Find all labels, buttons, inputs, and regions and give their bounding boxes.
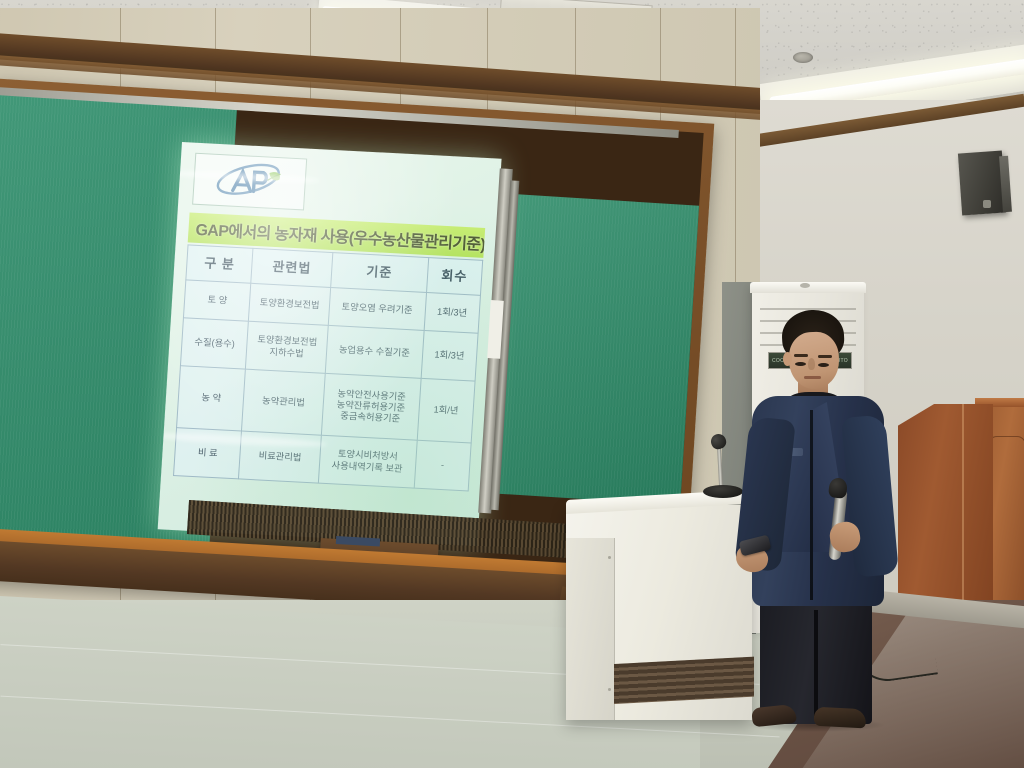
column-header-division: 구 분 <box>186 245 254 283</box>
heater-bottom-grille <box>614 657 754 704</box>
presenter-jacket-zipper <box>810 410 813 600</box>
standard-line: 토양오염 우려기준 <box>331 301 422 317</box>
column-header-standard: 기준 <box>330 253 428 293</box>
air-conditioner-knob[interactable] <box>800 283 810 288</box>
heater-screw <box>608 556 611 559</box>
cell-division: 토 양 <box>183 280 251 321</box>
lectern-front-panel <box>988 436 1024 618</box>
presenter-nose <box>808 358 815 370</box>
presenter-eyebrow-right <box>818 355 832 358</box>
ceiling-sprinkler-icon <box>793 52 813 63</box>
gap-standards-table: 구 분 관련법 기준 회수 토 양 토양환경보전법 토양오염 우려기준 1회/3… <box>173 244 483 491</box>
gap-logo-box <box>192 153 307 211</box>
cell-standard: 토양시비처방서 사용내역기록 보관 <box>318 435 417 488</box>
cell-frequency: 1회/년 <box>417 378 475 443</box>
projection-screen-slide: GAP에서의 농자재 사용(우수농산물관리기준) 구 분 관련법 기준 회수 토… <box>158 142 502 546</box>
speaker-logo-icon <box>983 200 991 208</box>
cell-division: 농 약 <box>177 366 246 431</box>
cell-standard: 농약안전사용기준 농약잔류허용기준 중금속허용기준 <box>321 373 421 440</box>
chalkboard-grain <box>499 194 699 505</box>
presenter-ear <box>783 352 792 366</box>
standard-line: 농업용수 수질기준 <box>329 344 420 360</box>
cell-frequency: 1회/3년 <box>421 330 478 381</box>
cell-division: 수질(용수) <box>180 318 248 369</box>
column-header-frequency: 회수 <box>426 258 483 296</box>
heater-screw <box>608 688 611 691</box>
presenter-shoe-right <box>814 707 867 729</box>
cell-law: 토양환경보전법 <box>249 283 331 325</box>
cell-division: 비 료 <box>174 428 242 479</box>
cell-standard: 토양오염 우려기준 <box>328 287 426 330</box>
law-line: 농약관리법 <box>246 395 321 410</box>
presenter <box>736 310 906 722</box>
cell-frequency: - <box>414 440 471 491</box>
presenter-eyebrow-left <box>794 354 808 357</box>
cell-law: 농약관리법 <box>242 369 325 435</box>
law-line: 비료관리법 <box>243 449 318 464</box>
cell-frequency: 1회/3년 <box>424 292 481 333</box>
column-header-law: 관련법 <box>251 248 332 287</box>
lecture-room-photo: GAP에서의 농자재 사용(우수농산물관리기준) 구 분 관련법 기준 회수 토… <box>0 0 1024 768</box>
presenter-mouth <box>804 376 821 379</box>
presenter-eye-right <box>818 363 829 367</box>
cell-standard: 농업용수 수질기준 <box>325 325 424 378</box>
cell-law: 비료관리법 <box>239 431 321 483</box>
presenter-leg-seam <box>814 610 818 716</box>
gap-logo-icon <box>202 159 296 204</box>
presenter-eye-left <box>795 362 806 366</box>
law-line: 토양환경보전법 <box>252 297 327 312</box>
chalkboard-panel-right[interactable] <box>499 194 699 505</box>
cell-law: 토양환경보전법 지하수법 <box>246 321 328 373</box>
heater-side-panel <box>566 538 615 720</box>
